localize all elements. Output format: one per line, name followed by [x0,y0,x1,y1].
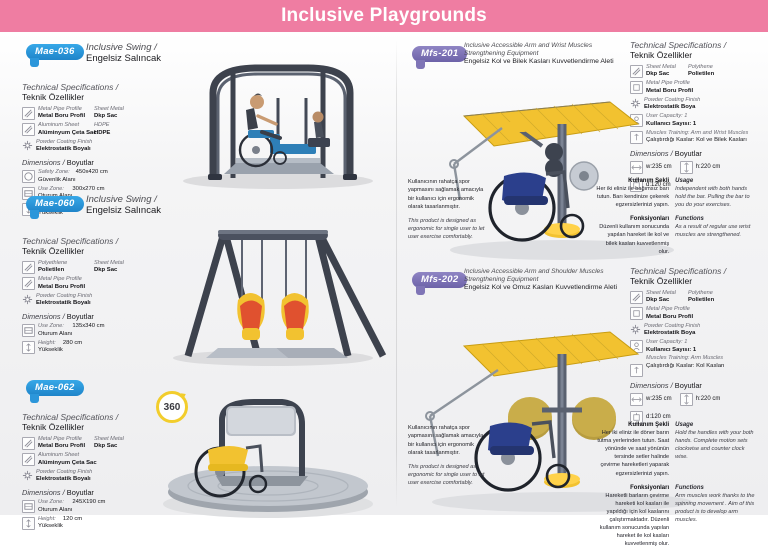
functions-body-en: Arm muscles work thanks to the spinning … [675,492,756,524]
usage-heading-tr: Kullanım Şekli [596,422,669,428]
usage-heading-tr: Kullanım Şekli [596,178,669,184]
product-code-badge-tail [30,58,39,67]
usage-heading-en: Usage [675,422,756,428]
spec-heading-tr: Teknik Özellikler [630,276,758,286]
product-code-badge-tail [416,286,425,295]
material-tr: Elektrostatik Boyalı [36,300,154,308]
dimensions-heading-en: Dimensions / [22,312,65,321]
spec-heading: Technical Specifications / Teknik Özelli… [22,82,154,103]
dimension-en: Use Zone: [38,499,72,507]
product-code-badge-tail [30,394,39,403]
functions-body-en: As a result of regular use wrist muscles… [675,223,756,239]
spec-row: PolyethlenePolietilen Sheet MetalDkp Sac [22,260,154,276]
powder-coating-icon [22,470,33,481]
dimensions-heading-en: Dimensions / [22,158,65,167]
usage-heading-en: Usage [675,178,756,184]
product-title-en: Inclusive Swing / [86,42,161,53]
product-illustration-mae-060 [158,188,388,368]
material-en: Sheet Metal [646,290,688,298]
aluminum-sheet-icon [22,123,35,136]
material-en: Metal Pipe Profile [38,436,94,444]
page-header: Inclusive Playgrounds [0,0,768,32]
material-tr-2: HDPE [94,130,154,138]
functions-group: Fonksiyonları Düzenli kullanım sonucunda… [596,216,756,255]
material-en: Aluminum Sheet [38,122,94,130]
usage-functions-block: Kullanım Şekli Her iki eliniz ile döner … [596,422,756,555]
sheet-metal-icon [22,107,35,120]
usage-body-tr: Her iki eliniz ile döner barın tutma yer… [596,429,669,478]
product-illustration-mae-036 [158,38,388,190]
height-icon [22,341,35,354]
product-card-mae-062[interactable]: Mae-062 Technical Specifications / Tekni… [8,376,390,516]
product-card-mfs-201[interactable]: Mfs-201 Inclusive Accessible Arm and Wri… [398,38,760,260]
functions-body-tr: Düzenli kullanım sonucunda yapılan harek… [596,223,669,255]
usage-group: Kullanım Şekli Her iki eliniz ile bağıms… [596,178,756,209]
product-title-tr: Engelsiz Kol ve Omuz Kasları Kuvvetlendi… [464,284,640,292]
spec-heading: Technical Specifications / Teknik Özelli… [22,412,154,433]
material-tr: Elektrostatik Boyalı [36,146,154,154]
right-column: Mfs-201 Inclusive Accessible Arm and Wri… [398,32,760,515]
spec-row: Aluminum SheetAlüminyum Çeta Sac HDPEHDP… [22,122,154,138]
material-en: Aluminum Sheet [38,452,154,460]
material-en: Powder Coating Finish [36,293,154,301]
material-tr: Alüminyum Çeta Sac [38,130,94,138]
functions-heading-tr: Fonksiyonları [596,216,669,222]
spec-heading-tr: Teknik Özellikler [22,92,154,102]
safety-zone-icon [22,170,35,183]
material-en: Metal Pipe Profile [38,106,94,114]
dimension-row: Height:Yükseklik 120 cm [22,516,154,532]
material-tr: Metal Boru Profil [38,113,94,121]
material-en: Metal Pipe Profile [38,276,154,284]
dimension-row: Use Zone:Oturum Alanı 245X190 cm [22,499,154,515]
spec-row: Metal Pipe Profile Metal Boru Profil [22,276,154,292]
spec-heading-en: Technical Specifications / [22,236,154,246]
powder-coating-icon [22,294,33,305]
product-title-tr: Engelsiz Salıncak [86,205,161,216]
usage-functions-block: Kullanım Şekli Her iki eliniz ile bağıms… [596,178,756,263]
spec-heading-en: Technical Specifications / [630,266,758,276]
product-code-badge-tail [30,210,39,219]
use-zone-icon [22,324,35,337]
dimensions-heading: Dimensions / Boyutlar [22,488,154,497]
powder-coating-icon [22,140,33,151]
usage-body-en: Hold the handles with your both hands. C… [675,429,756,461]
product-title-en: Inclusive Swing / [86,194,161,205]
ergonomic-note-tr: Kullanıcının rahatça spor yapmasını sağl… [408,424,486,458]
dimension-value: 280 cm [63,340,82,356]
material-tr: Polietilen [38,267,94,275]
column-divider [396,38,397,508]
product-card-mae-060[interactable]: Mae-060 Inclusive Swing / Engelsiz Salın… [8,192,390,372]
dimension-value: 450x420 cm [76,169,108,185]
product-title-en: Inclusive Accessible Arm and Wrist Muscl… [464,42,634,50]
functions-heading-en: Functions [675,485,756,491]
material-en: Powder Coating Finish [36,139,154,147]
material-tr-2: Dkp Sac [94,267,154,275]
spec-row: Powder Coating Finish Elektrostatik Boya… [22,293,154,309]
ergonomic-note-en: This product is designed as ergonomic fo… [408,463,486,488]
product-title: Inclusive Swing / Engelsiz Salıncak [86,194,161,216]
ergonomic-note-tr: Kullanıcının rahatça spor yapmasını sağl… [408,178,486,212]
ergonomic-note: Kullanıcının rahatça spor yapmasını sağl… [408,424,486,493]
ergonomic-note: Kullanıcının rahatça spor yapmasını sağl… [408,178,486,247]
metal-pipe-icon [22,277,35,290]
dimension-en: Use Zone: [38,323,72,331]
spec-row: Powder Coating Finish Elektrostatik Boya… [22,139,154,155]
dimension-tr: Yükseklik [38,347,63,355]
dimension-tr: Yükseklik [38,523,63,531]
spec-heading: Technical Specifications / Teknik Özelli… [630,40,758,61]
material-en: Powder Coating Finish [36,469,154,477]
material-tr-2: Dkp Sac [94,113,154,121]
metal-pipe-icon [22,437,35,450]
product-title: Inclusive Swing / Engelsiz Salıncak [86,42,161,64]
dimension-en: Height: [38,340,63,348]
spec-heading-tr: Teknik Özellikler [22,422,154,432]
dimensions-heading: Dimensions / Boyutlar [22,158,154,167]
spec-block: Technical Specifications / Teknik Özelli… [22,412,154,532]
material-en-2: Polythene [688,290,758,298]
polyethylene-icon [22,261,35,274]
dimension-row: Height:Yükseklik 280 cm [22,340,154,356]
dimension-tr: Güvenlik Alanı [38,177,76,185]
catalog-page: Mae-036 Inclusive Swing / Engelsiz Salın… [0,32,768,515]
material-en-2: Sheet Metal [94,260,154,268]
dimension-value: 135x340 cm [72,323,104,339]
product-card-mfs-202[interactable]: Mfs-202 Inclusive Accessible Arm and Sho… [398,264,760,514]
aluminum-sheet-icon [22,453,35,466]
dimension-tr: Oturum Alanı [38,507,72,515]
usage-body-tr: Her iki eliniz ile bağımsız barı tutun. … [596,185,669,209]
measure-height-value: h:220 cm [696,164,721,170]
dimension-row: Use Zone:Oturum Alanı 135x340 cm [22,323,154,339]
spec-row: Aluminum Sheet Alüminyum Çeta Sac [22,452,154,468]
page-title: Inclusive Playgrounds [281,5,487,27]
product-title: Inclusive Accessible Arm and Shoulder Mu… [464,268,640,292]
dimension-row: Safety Zone:Güvenlik Alanı 450x420 cm [22,169,154,185]
product-code-badge-tail [416,60,425,69]
material-tr: Metal Boru Profil [38,443,94,451]
dimensions-heading-tr: Boyutlar [67,158,94,167]
dimensions-heading-tr: Boyutlar [67,488,94,497]
dimension-value: 120 cm [63,516,82,532]
material-en-2: Polythene [688,64,758,72]
dimension-en: Height: [38,516,63,524]
dimensions-heading-tr: Boyutlar [67,312,94,321]
spec-row: Metal Pipe ProfileMetal Boru Profil Shee… [22,106,154,122]
functions-body-tr: Hareketli barların çevirme hareketi kol … [596,492,669,549]
product-title-en-2: Strengthening Equipment [464,50,634,58]
material-tr: Metal Boru Profil [38,284,154,292]
material-en-2: Sheet Metal [94,436,154,444]
spec-row: Powder Coating Finish Elektrostatik Boya… [22,469,154,485]
dimensions-heading: Dimensions / Boyutlar [22,312,154,321]
spec-heading-en: Technical Specifications / [630,40,758,50]
spec-heading-en: Technical Specifications / [22,82,154,92]
product-title-en: Inclusive Accessible Arm and Shoulder Mu… [464,268,640,276]
material-en: Polyethlene [38,260,94,268]
dimension-tr: Oturum Alanı [38,331,72,339]
spec-heading: Technical Specifications / Teknik Özelli… [22,236,154,257]
spec-heading-en: Technical Specifications / [22,412,154,422]
use-zone-icon [22,500,35,513]
dimension-value: 245X190 cm [72,499,105,515]
product-illustration-mae-062 [150,380,388,518]
product-title-en-2: Strengthening Equipment [464,276,640,284]
material-tr: Elektrostatik Boyalı [36,476,154,484]
functions-heading-en: Functions [675,216,756,222]
spec-heading-tr: Teknik Özellikler [630,50,758,60]
material-en-2: Sheet Metal [94,106,154,114]
product-card-mae-036[interactable]: Mae-036 Inclusive Swing / Engelsiz Salın… [8,38,390,188]
product-title-tr: Engelsiz Salıncak [86,53,161,64]
spec-heading: Technical Specifications / Teknik Özelli… [630,266,758,287]
ergonomic-note-en: This product is designed as ergonomic fo… [408,217,486,242]
dimensions-heading-en: Dimensions / [22,488,65,497]
height-icon [22,517,35,530]
spec-block: Technical Specifications / Teknik Özelli… [22,236,154,356]
spec-row: Metal Pipe ProfileMetal Boru Profil Shee… [22,436,154,452]
material-tr-2: Dkp Sac [94,443,154,451]
functions-heading-tr: Fonksiyonları [596,485,669,491]
product-title-tr: Engelsiz Kol ve Bilek Kasları Kuvvetlend… [464,58,634,66]
spec-heading-tr: Teknik Özellikler [22,246,154,256]
dimension-en: Safety Zone: [38,169,76,177]
usage-group: Kullanım Şekli Her iki eliniz ile döner … [596,422,756,478]
usage-body-en: Independent with both hands hold the bar… [675,185,756,209]
functions-group: Fonksiyonları Hareketli barların çevirme… [596,485,756,549]
material-tr-2: Polietilen [688,71,758,79]
material-tr: Alüminyum Çeta Sac [38,460,154,468]
product-title: Inclusive Accessible Arm and Wrist Muscl… [464,42,634,66]
left-column: Mae-036 Inclusive Swing / Engelsiz Salın… [8,32,390,515]
material-en-2: HDPE [94,122,154,130]
